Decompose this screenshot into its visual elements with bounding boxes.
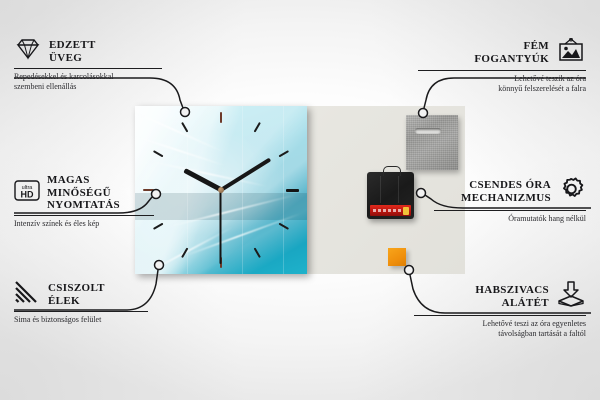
mechanism-bracket [383,166,401,176]
feature-title: CSENDES ÓRA MECHANIZMUS [461,179,551,204]
feature-foam-pad: HABSZIVACS ALÁTÉT Lehetővé teszi az óra … [414,281,586,339]
feature-description: Lehetővé teszi az óra egyenletes távolsá… [414,319,586,339]
feature-divider [14,68,162,69]
feature-head: EDZETT ÜVEG [14,38,162,65]
feature-divider [418,70,586,71]
feature-head: HABSZIVACS ALÁTÉT [414,281,586,312]
ultra-hd-icon: ultra HD [14,179,40,207]
battery-label [373,209,401,212]
feature-title: EDZETT ÜVEG [49,39,96,64]
battery [370,205,411,216]
feature-head: ultra HD MAGAS MINŐSÉGŰ NYOMTATÁS [14,174,154,212]
feature-divider [434,210,586,211]
feature-description: Óramutatók hang nélkül [434,214,586,224]
clock-center-cap [218,187,224,193]
feature-title: FÉM FOGANTYÚK [474,40,549,65]
infographic-canvas: EDZETT ÜVEG Repedésekkel és karcolásokka… [0,0,600,400]
svg-text:HD: HD [21,189,34,199]
feature-high-quality-print: ultra HD MAGAS MINŐSÉGŰ NYOMTATÁS Intenz… [14,174,154,229]
feature-description: Intenzív színek és éles kép [14,219,154,229]
clock-tick-3 [221,189,299,191]
feature-title: HABSZIVACS ALÁTÉT [475,284,549,309]
gear-icon [558,176,586,207]
feature-metal-handles: FÉM FOGANTYÚK Lehetővé teszik az óra kön… [418,38,586,94]
feature-divider [14,311,148,312]
mechanism-seam [380,176,381,203]
feature-description: Sima és biztonságos felület [14,315,148,325]
feature-quiet-mechanism: CSENDES ÓRA MECHANIZMUS Óramutatók hang … [434,176,586,224]
hanger-texture [406,115,458,170]
diamond-icon [14,38,42,65]
feature-title: MAGAS MINŐSÉGŰ NYOMTATÁS [47,174,154,212]
product-photo [135,106,465,274]
clock-tick-9 [143,189,221,191]
feature-description: Lehetővé teszik az óra könnyű felszerelé… [418,74,586,94]
feature-polished-edges: CSISZOLT ÉLEK Sima és biztonságos felüle… [14,281,148,325]
feature-divider [414,315,586,316]
feature-head: CSISZOLT ÉLEK [14,281,148,308]
clock-mechanism [367,172,414,219]
press-down-pad-icon [556,281,586,312]
hanging-picture-icon [556,38,586,67]
metal-hanger [406,115,458,170]
foam-pad [388,248,406,266]
feature-divider [14,215,154,216]
mechanism-seam [398,176,399,203]
feature-head: CSENDES ÓRA MECHANIZMUS [434,176,586,207]
bevel-lines-icon [14,281,41,308]
feature-title: CSISZOLT ÉLEK [48,282,105,307]
wall-clock [135,106,307,274]
feature-tempered-glass: EDZETT ÜVEG Repedésekkel és karcolásokka… [14,38,162,92]
feature-description: Repedésekkel és karcolásokkal szembeni e… [14,72,162,92]
feature-head: FÉM FOGANTYÚK [418,38,586,67]
clock-tick-12 [220,112,222,190]
